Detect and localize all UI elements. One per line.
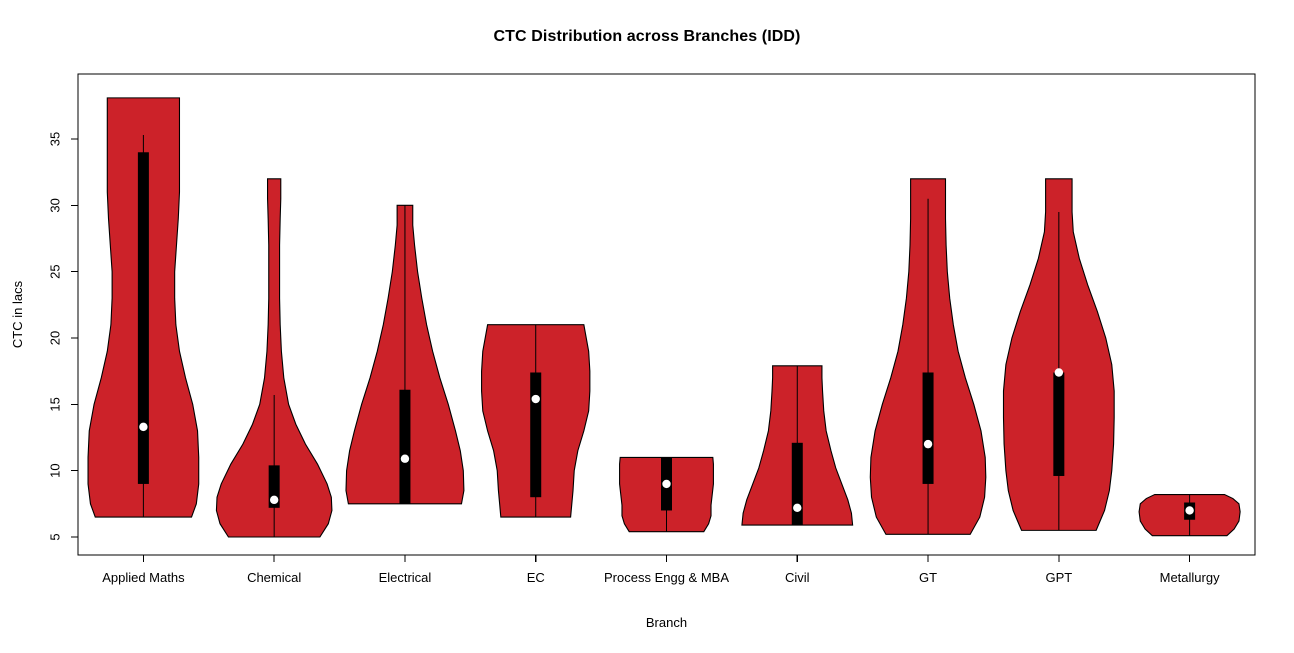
x-tick-label: Applied Maths [102,570,185,585]
x-tick-label: Chemical [247,570,301,585]
violin-iqr-box [138,152,149,484]
violin-median-point [662,480,670,488]
violin-metallurgy[interactable] [1139,495,1240,536]
violin-iqr-box [792,443,803,525]
x-tick-label: Electrical [379,570,432,585]
violin-gt[interactable] [870,179,986,535]
violin-chart: CTC Distribution across Branches (IDD) 5… [0,0,1294,653]
violin-median-point [1185,506,1193,514]
violin-iqr-box [399,390,410,504]
violin-process-engg-mba[interactable] [620,457,714,531]
x-tick-label: GPT [1045,570,1072,585]
violin-chemical[interactable] [216,179,332,537]
y-tick-label: 10 [47,463,62,477]
y-axis-title: CTC in lacs [10,280,25,348]
x-tick-label: EC [527,570,545,585]
y-tick-label: 25 [47,264,62,278]
violin-median-point [924,440,932,448]
x-axis-title: Branch [646,615,687,630]
x-tick-label: Metallurgy [1160,570,1220,585]
y-tick-label: 35 [47,132,62,146]
y-tick-label: 5 [47,533,62,540]
violin-median-point [1055,368,1063,376]
violin-iqr-box [530,372,541,497]
violin-applied-maths[interactable] [88,98,199,517]
violin-median-point [139,423,147,431]
violin-median-point [532,395,540,403]
violin-median-point [793,504,801,512]
violin-median-point [270,496,278,504]
violin-iqr-box [923,372,934,483]
x-tick-label: Process Engg & MBA [604,570,729,585]
violins-layer [88,98,1240,537]
plot-area: 5101520253035Applied MathsChemicalElectr… [0,0,1294,653]
x-tick-label: GT [919,570,937,585]
y-tick-label: 30 [47,198,62,212]
y-tick-label: 20 [47,331,62,345]
violin-gpt[interactable] [1003,179,1114,531]
violin-civil[interactable] [742,366,853,525]
violin-electrical[interactable] [346,205,464,504]
y-tick-label: 15 [47,397,62,411]
violin-ec[interactable] [482,325,590,517]
violin-iqr-box [1053,372,1064,475]
violin-median-point [401,455,409,463]
x-tick-label: Civil [785,570,810,585]
